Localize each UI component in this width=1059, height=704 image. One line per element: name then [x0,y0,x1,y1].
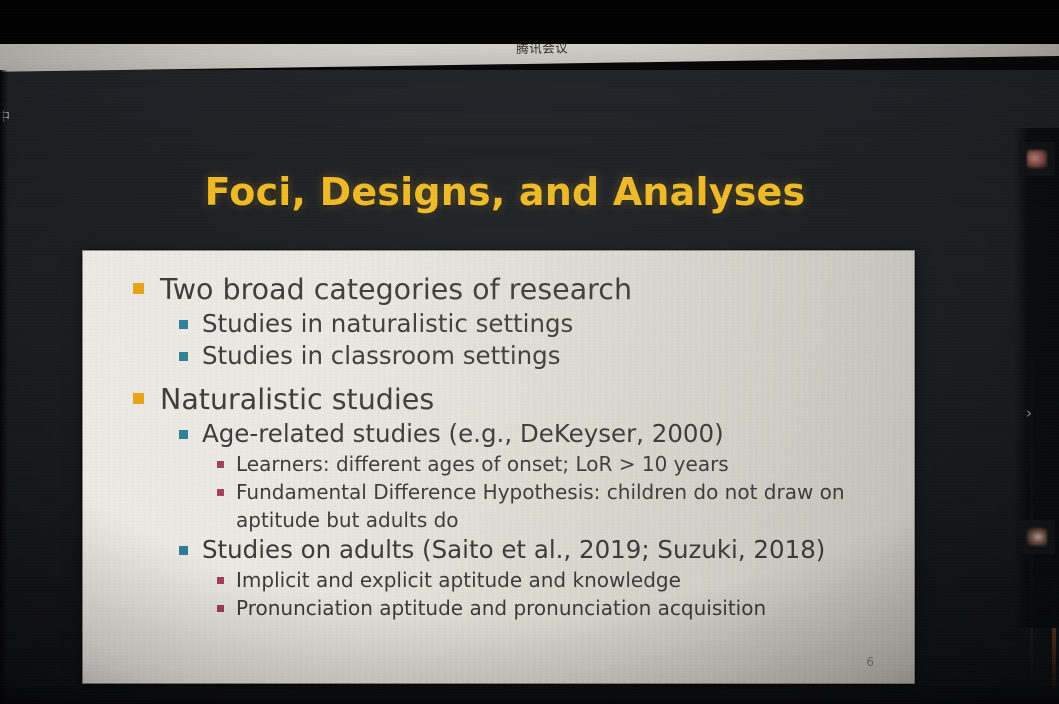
monitor-left-bezel [0,70,8,704]
bullet-item-level-3: Pronunciation aptitude and pronunciation… [217,594,892,622]
bullet-text: Implicit and explicit aptitude and knowl… [236,566,892,594]
monitor-bottom-bezel [0,686,1059,704]
bullet-square-icon [217,605,224,612]
bullet-square-icon [217,489,224,496]
bullet-item-level-2: Age-related studies (e.g., DeKeyser, 200… [179,418,892,450]
chevron-right-icon[interactable]: › [1021,402,1037,424]
slide-title: Foci, Designs, and Analyses [0,170,1010,214]
bullet-text: Two broad categories of research [160,271,892,308]
bullet-square-icon [133,283,144,294]
bullet-item-level-1: Two broad categories of research [133,271,892,308]
participant-video-tile[interactable] [1019,520,1055,554]
bullet-item-level-3: Fundamental Difference Hypothesis: child… [217,478,892,534]
avatar [1027,528,1047,546]
slide-page-number: 6 [866,655,874,669]
bullet-square-icon [179,352,188,361]
bullet-square-icon [179,320,188,329]
bullet-square-icon [179,546,188,555]
slide-content-box: Two broad categories of researchStudies … [82,250,915,684]
bullet-text: Studies in naturalistic settings [202,308,892,340]
monitor-top-bezel [0,0,1059,44]
bullet-item-level-2: Studies on adults (Saito et al., 2019; S… [179,534,892,566]
bullet-text: Studies on adults (Saito et al., 2019; S… [202,534,892,566]
bullet-item-level-2: Studies in classroom settings [179,340,892,372]
bullet-item-level-3: Implicit and explicit aptitude and knowl… [217,566,892,594]
bullet-item-level-3: Learners: different ages of onset; LoR >… [217,450,892,478]
participant-video-strip [1014,128,1059,628]
bullet-square-icon [217,461,224,468]
bullet-text: Naturalistic studies [160,381,892,418]
bullet-text: Learners: different ages of onset; LoR >… [236,450,892,478]
bullet-square-icon [179,430,188,439]
bullet-text: Fundamental Difference Hypothesis: child… [236,478,892,534]
bullet-square-icon [217,577,224,584]
bullet-item-level-1: Naturalistic studies [133,381,892,418]
bullet-item-level-2: Studies in naturalistic settings [179,308,892,340]
avatar [1027,150,1047,168]
bullet-text: Pronunciation aptitude and pronunciation… [236,594,892,622]
bullet-text: Age-related studies (e.g., DeKeyser, 200… [202,418,892,450]
participant-video-tile[interactable] [1019,142,1055,176]
slide-bullet-list: Two broad categories of researchStudies … [83,251,914,622]
bullet-square-icon [133,393,144,404]
screen-photograph: Foci, Designs, and Analyses Two broad ca… [0,0,1059,704]
shared-slide: Foci, Designs, and Analyses Two broad ca… [0,128,1010,704]
bullet-text: Studies in classroom settings [202,340,892,372]
